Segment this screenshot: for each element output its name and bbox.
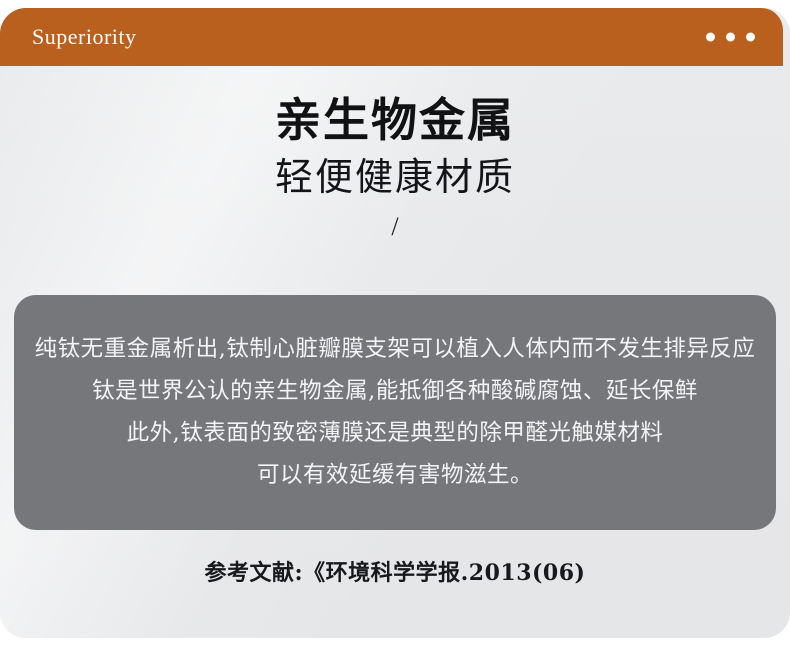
description-line: 此外,钛表面的致密薄膜还是典型的除甲醛光触媒材料	[127, 412, 664, 454]
description-panel: 纯钛无重金属析出,钛制心脏瓣膜支架可以植入人体内而不发生排异反应 钛是世界公认的…	[14, 295, 776, 530]
section-header-title: Superiority	[32, 24, 137, 50]
description-line: 纯钛无重金属析出,钛制心脏瓣膜支架可以植入人体内而不发生排异反应	[35, 328, 756, 370]
page-subtitle: 轻便健康材质	[0, 152, 790, 202]
product-detail-page: Superiority 亲生物金属 轻便健康材质 / 纯钛无重金属析出,钛制心脏…	[0, 0, 790, 645]
header-dots-group	[706, 33, 755, 42]
title-block: 亲生物金属 轻便健康材质 /	[0, 92, 790, 242]
reference-citation: 参考文献:《环境科学学报.2013(06)	[0, 555, 790, 587]
dot-icon	[706, 33, 715, 42]
description-line: 可以有效延缓有害物滋生。	[257, 454, 533, 496]
description-line: 钛是世界公认的亲生物金属,能抵御各种酸碱腐蚀、延长保鲜	[92, 370, 698, 412]
dot-icon	[726, 33, 735, 42]
title-divider: /	[0, 212, 790, 242]
dot-icon	[746, 33, 755, 42]
section-header-bar: Superiority	[0, 8, 783, 66]
page-title: 亲生物金属	[0, 92, 790, 148]
